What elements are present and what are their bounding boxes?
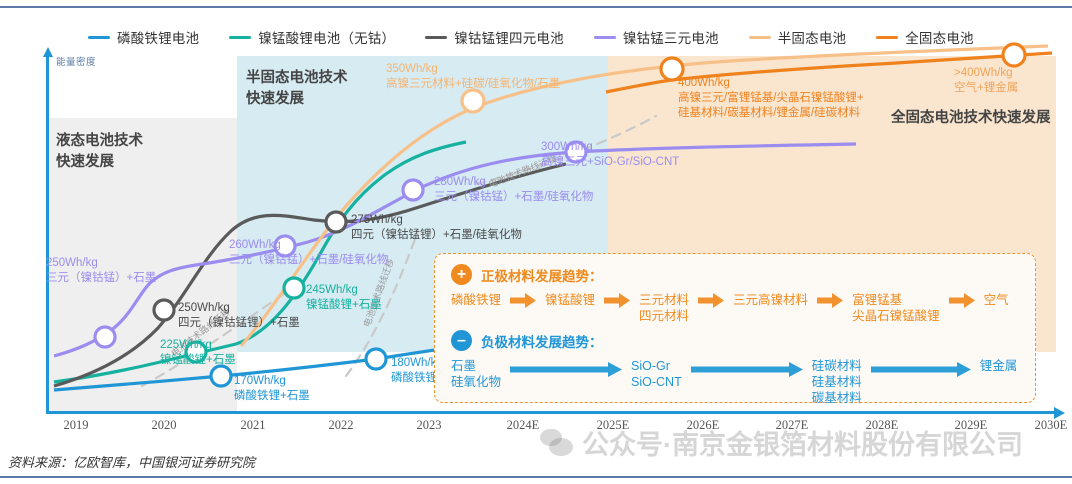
x-tick-2029E: 2029E xyxy=(955,418,988,433)
legend-swatch-semisolid xyxy=(749,36,771,39)
cathode-step-1: 磷酸铁锂 xyxy=(451,292,501,308)
x-tick-2022: 2022 xyxy=(329,418,354,433)
point-lfp-170 xyxy=(211,366,231,386)
cathode-flow: 磷酸铁锂 镍锰酸锂 三元材料 四元材料 三元高镍材料 xyxy=(451,292,1009,324)
legend-item-quaternary[interactable]: 镍钴锰锂四元电池 xyxy=(425,27,564,47)
x-tick-2023: 2023 xyxy=(417,418,442,433)
legend-label-semisolid: 半固态电池 xyxy=(778,27,847,47)
annotation-400plus: >400Wh/kg 空气+锂金属 xyxy=(954,66,1018,96)
legend-label-ternary: 镍钴锰三元电池 xyxy=(623,27,719,47)
anode-title: 负极材料发展趋势： xyxy=(481,331,603,351)
cathode-step-2: 镍锰酸锂 xyxy=(545,292,595,308)
cathode-header: + 正极材料发展趋势： xyxy=(451,264,603,285)
x-tick-2024E: 2024E xyxy=(507,418,540,433)
plus-icon: + xyxy=(451,264,472,285)
chart-legend: 磷酸铁锂电池 镍锰酸锂电池（无钴） 镍钴锰锂四元电池 镍钴锰三元电池 半固态电池… xyxy=(88,26,1008,48)
annotation-250-quaternary: 250Wh/kg 四元（镍钴锰锂）+石墨 xyxy=(178,301,300,331)
arrow-right-long-icon xyxy=(871,362,971,377)
legend-label-lfp: 磷酸铁锂电池 xyxy=(117,27,199,47)
annotation-275: 275Wh/kg 四元（镍钴锰锂）+石墨/硅氧化物 xyxy=(351,213,522,243)
legend-swatch-quaternary xyxy=(425,36,447,39)
annotation-245: 245Wh/kg 镍锰酸锂+石墨 xyxy=(306,283,382,313)
legend-swatch-lfp xyxy=(88,36,110,39)
annotation-280: 280Wh/kg 三元（镍钴锰）+石墨/硅氧化物 xyxy=(434,175,593,205)
annotation-225: 225Wh/kg 镍锰酸锂+石墨 xyxy=(160,338,236,368)
arrow-right-icon xyxy=(698,293,724,308)
annotation-350: 350Wh/kg 高镍三元材料+硅碳/硅氧化物/石墨 xyxy=(386,62,560,92)
point-quad-275 xyxy=(326,212,346,232)
legend-swatch-ternary xyxy=(594,36,616,39)
x-tick-2027E: 2027E xyxy=(776,418,809,433)
minus-icon: – xyxy=(451,330,472,351)
x-tick-2025E: 2025E xyxy=(597,418,630,433)
point-lfp-180 xyxy=(366,349,386,369)
x-tick-2020: 2020 xyxy=(152,418,177,433)
x-tick-2026E: 2026E xyxy=(687,418,720,433)
arrow-right-long-icon xyxy=(510,362,622,377)
legend-label-allsolid: 全固态电池 xyxy=(905,27,974,47)
arrow-right-icon xyxy=(817,293,843,308)
cathode-step-4: 三元高镍材料 xyxy=(733,292,808,308)
anode-header: – 负极材料发展趋势： xyxy=(451,330,603,351)
cathode-step-3: 三元材料 四元材料 xyxy=(639,292,689,324)
anode-step-4: 锂金属 xyxy=(980,358,1018,374)
legend-item-ternary[interactable]: 镍钴锰三元电池 xyxy=(594,27,719,47)
anode-step-3: 硅碳材料 硅基材料 碳基材料 xyxy=(812,358,862,406)
anode-flow: 石墨 硅氧化物 SiO-Gr SiO-CNT 硅碳材料 硅基材料 碳基材料 xyxy=(451,358,1017,406)
annotation-170: 170Wh/kg 磷酸铁锂+石墨 xyxy=(234,374,310,404)
anode-step-2: SiO-Gr SiO-CNT xyxy=(631,358,682,390)
annotation-300: 300Wh/kg 高镍三元+SiO-Gr/SiO-CNT xyxy=(541,140,679,170)
legend-swatch-allsolid xyxy=(876,36,898,39)
point-quad-250 xyxy=(154,300,174,320)
x-axis-tick-labels: 2019 2020 2021 2022 2023 2024E 2025E 202… xyxy=(46,418,1056,438)
top-divider xyxy=(0,6,1072,8)
point-lnmo-245 xyxy=(284,278,304,298)
arrow-right-icon xyxy=(604,293,630,308)
x-tick-2028E: 2028E xyxy=(866,418,899,433)
legend-item-lnmo[interactable]: 镍锰酸锂电池（无钴） xyxy=(229,27,395,47)
point-allsolid-400plus xyxy=(1003,44,1025,66)
x-tick-2019: 2019 xyxy=(64,418,89,433)
cathode-title: 正极材料发展趋势： xyxy=(481,265,603,285)
anode-step-1: 石墨 硅氧化物 xyxy=(451,358,501,390)
point-ternary-280 xyxy=(403,180,423,200)
legend-swatch-lnmo xyxy=(229,36,251,39)
x-tick-2021: 2021 xyxy=(241,418,266,433)
arrow-right-icon xyxy=(949,293,975,308)
bottom-divider xyxy=(0,476,1072,478)
point-ternary-250 xyxy=(95,327,115,347)
source-note: 资料来源：亿欧智库，中国银河证券研究院 xyxy=(8,452,255,471)
point-semisolid-350 xyxy=(462,90,484,112)
annotation-400: 400Wh/kg 高镍三元/富锂锰基/尖晶石镍锰酸锂+ 硅基材料/碳基材料/锂金… xyxy=(678,76,864,122)
legend-item-lfp[interactable]: 磷酸铁锂电池 xyxy=(88,27,199,47)
x-tick-2030E: 2030E xyxy=(1035,418,1068,433)
annotation-250-ternary: 250Wh/kg 三元（镍钴锰）+石墨 xyxy=(46,256,156,286)
arrow-right-icon xyxy=(510,293,536,308)
material-trend-box: + 正极材料发展趋势： 磷酸铁锂 镍锰酸锂 三元材料 四元材料 xyxy=(434,253,1036,403)
cathode-step-5: 富锂锰基 尖晶石镍锰酸锂 xyxy=(852,292,940,324)
legend-item-semisolid[interactable]: 半固态电池 xyxy=(749,27,847,47)
legend-label-quaternary: 镍钴锰锂四元电池 xyxy=(454,27,564,47)
arrow-right-long-icon xyxy=(691,362,803,377)
legend-label-lnmo: 镍锰酸锂电池（无钴） xyxy=(258,27,395,47)
legend-item-allsolid[interactable]: 全固态电池 xyxy=(876,27,974,47)
cathode-step-6: 空气 xyxy=(984,292,1009,308)
